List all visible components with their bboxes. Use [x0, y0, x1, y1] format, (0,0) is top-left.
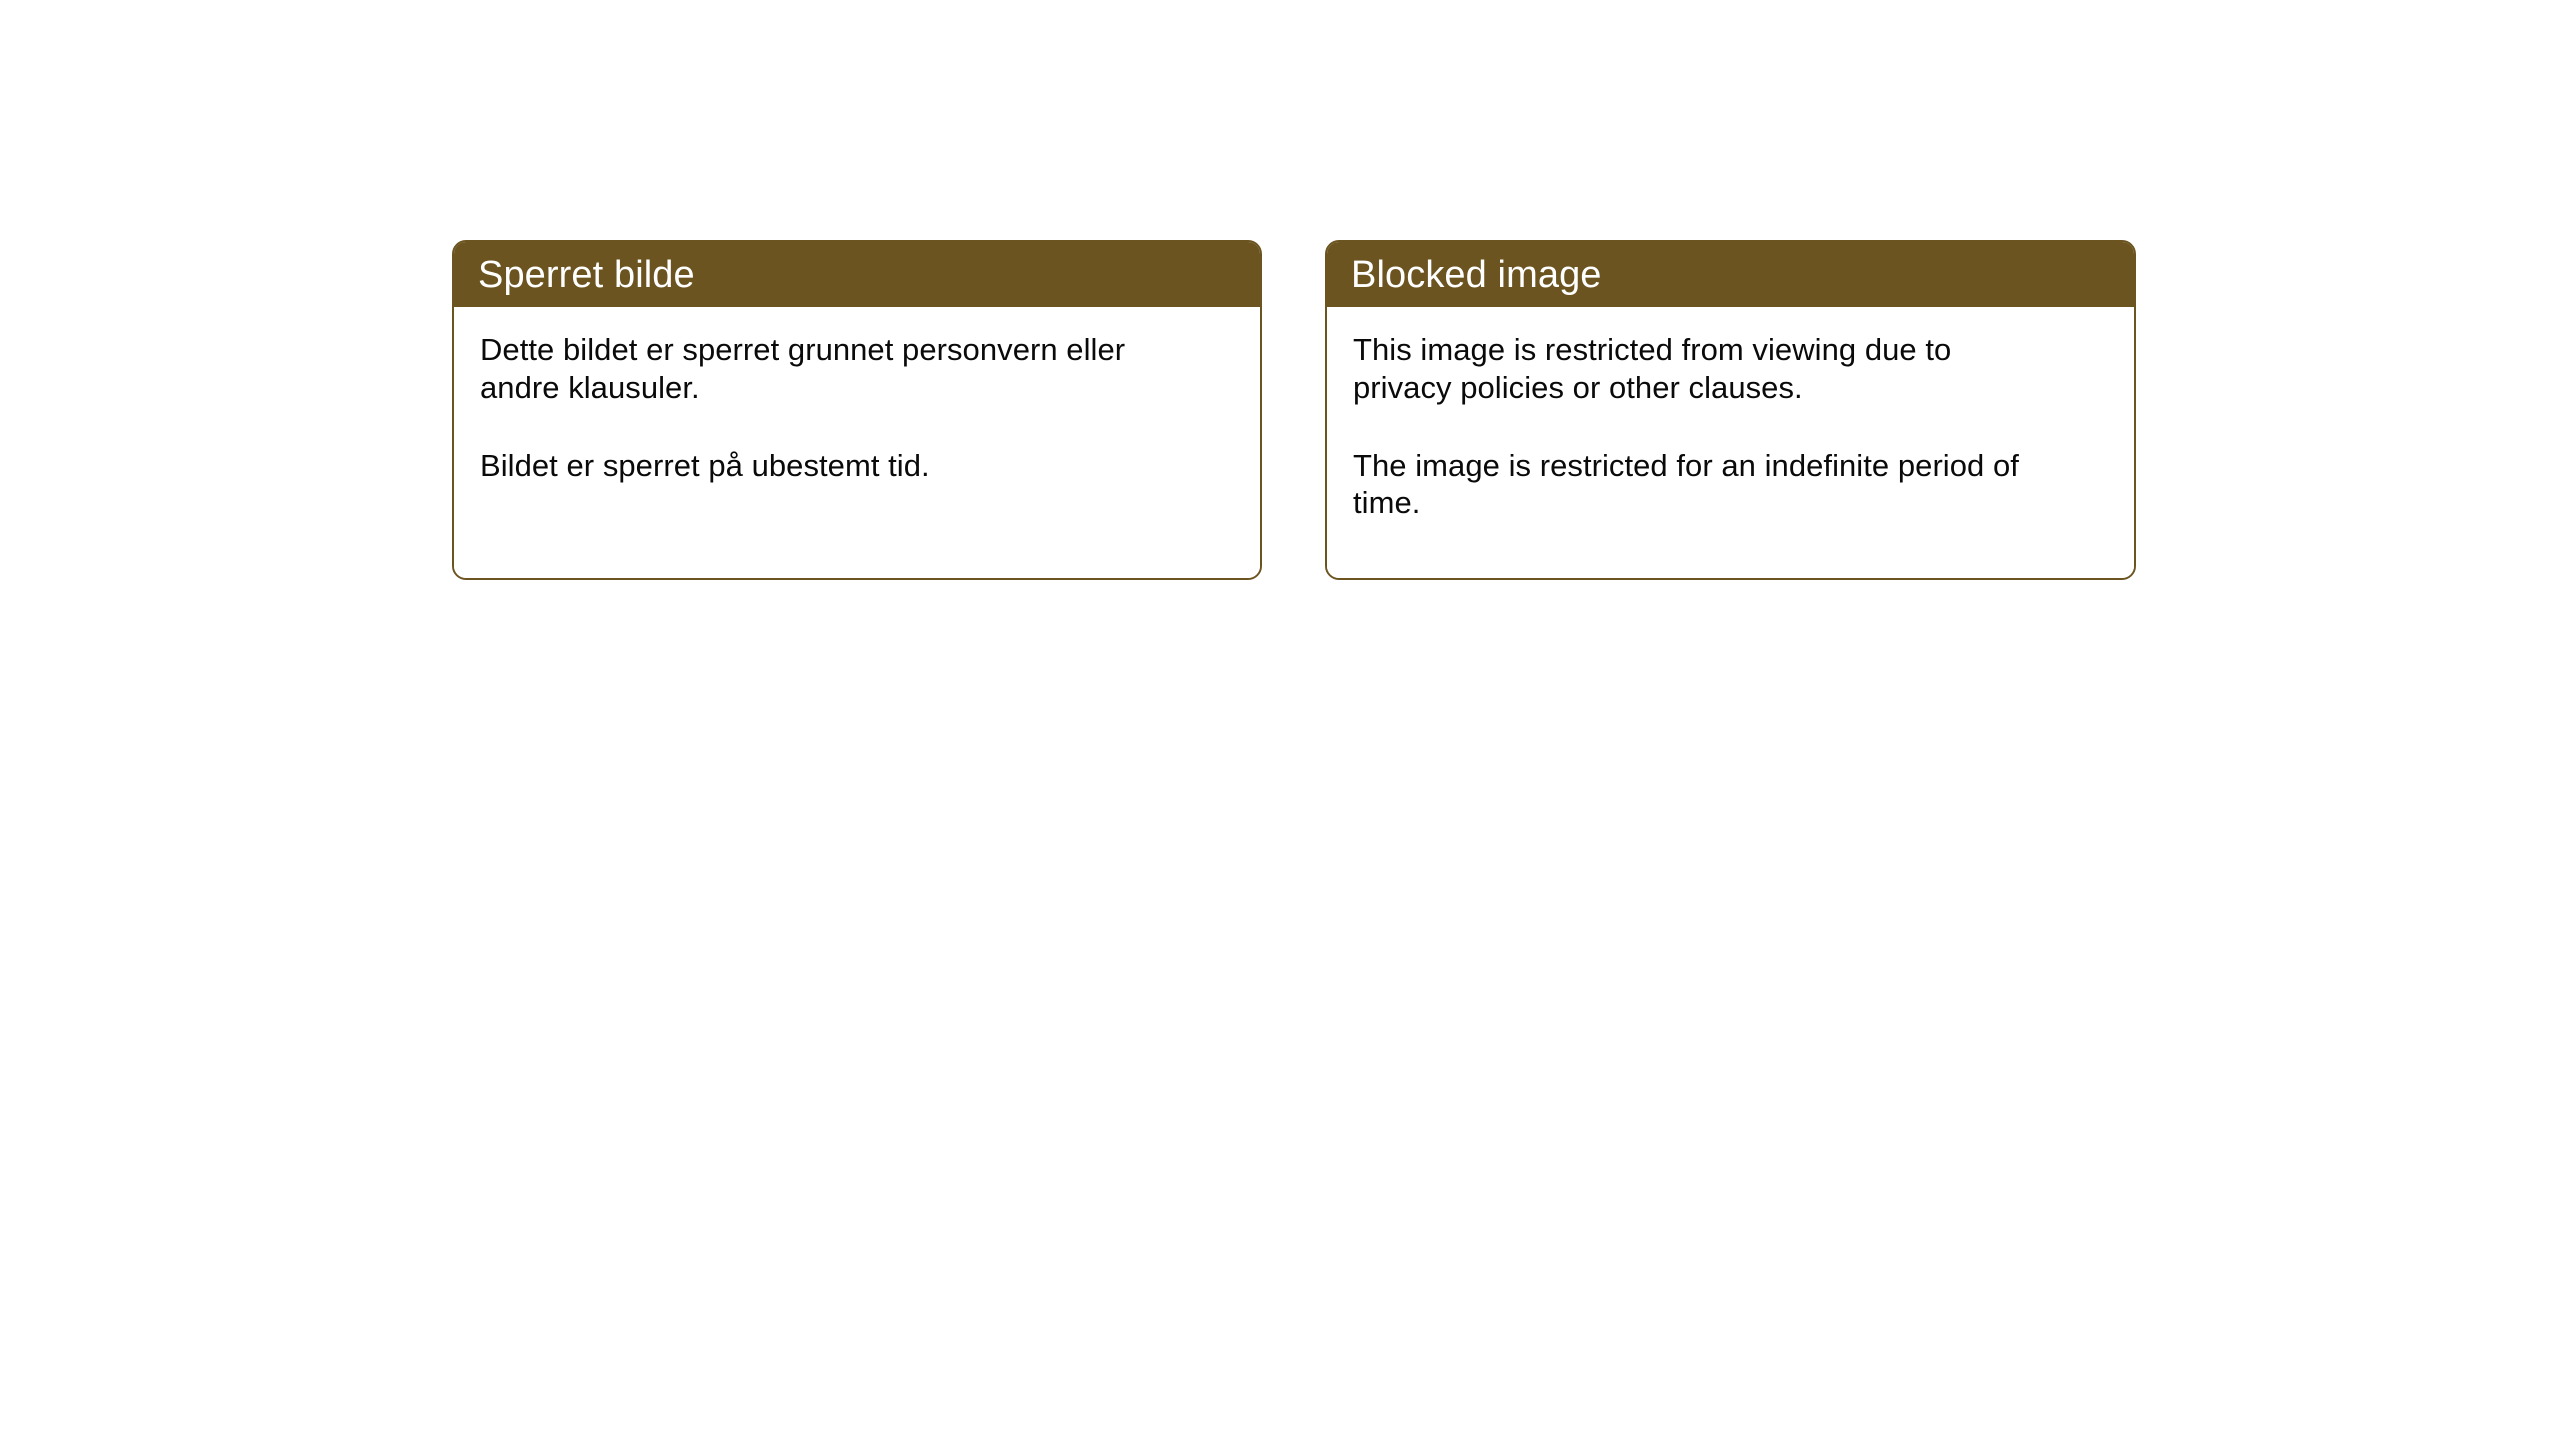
- card-paragraph-reason-norwegian: Dette bildet er sperret grunnet personve…: [480, 331, 1180, 407]
- page-canvas: Sperret bilde Dette bildet er sperret gr…: [0, 0, 2560, 1440]
- notice-card-group: Sperret bilde Dette bildet er sperret gr…: [452, 240, 2136, 580]
- card-paragraph-duration-norwegian: Bildet er sperret på ubestemt tid.: [480, 447, 1180, 485]
- card-paragraph-reason-english: This image is restricted from viewing du…: [1353, 331, 2053, 407]
- card-paragraph-duration-english: The image is restricted for an indefinit…: [1353, 447, 2053, 523]
- card-header-norwegian: Sperret bilde: [454, 242, 1260, 307]
- card-title-norwegian: Sperret bilde: [478, 256, 695, 294]
- card-body-english: This image is restricted from viewing du…: [1327, 307, 2134, 578]
- blocked-image-notice-card-english: Blocked image This image is restricted f…: [1325, 240, 2136, 580]
- blocked-image-notice-card-norwegian: Sperret bilde Dette bildet er sperret gr…: [452, 240, 1262, 580]
- card-header-english: Blocked image: [1327, 242, 2134, 307]
- card-title-english: Blocked image: [1351, 256, 1602, 294]
- card-body-norwegian: Dette bildet er sperret grunnet personve…: [454, 307, 1260, 578]
